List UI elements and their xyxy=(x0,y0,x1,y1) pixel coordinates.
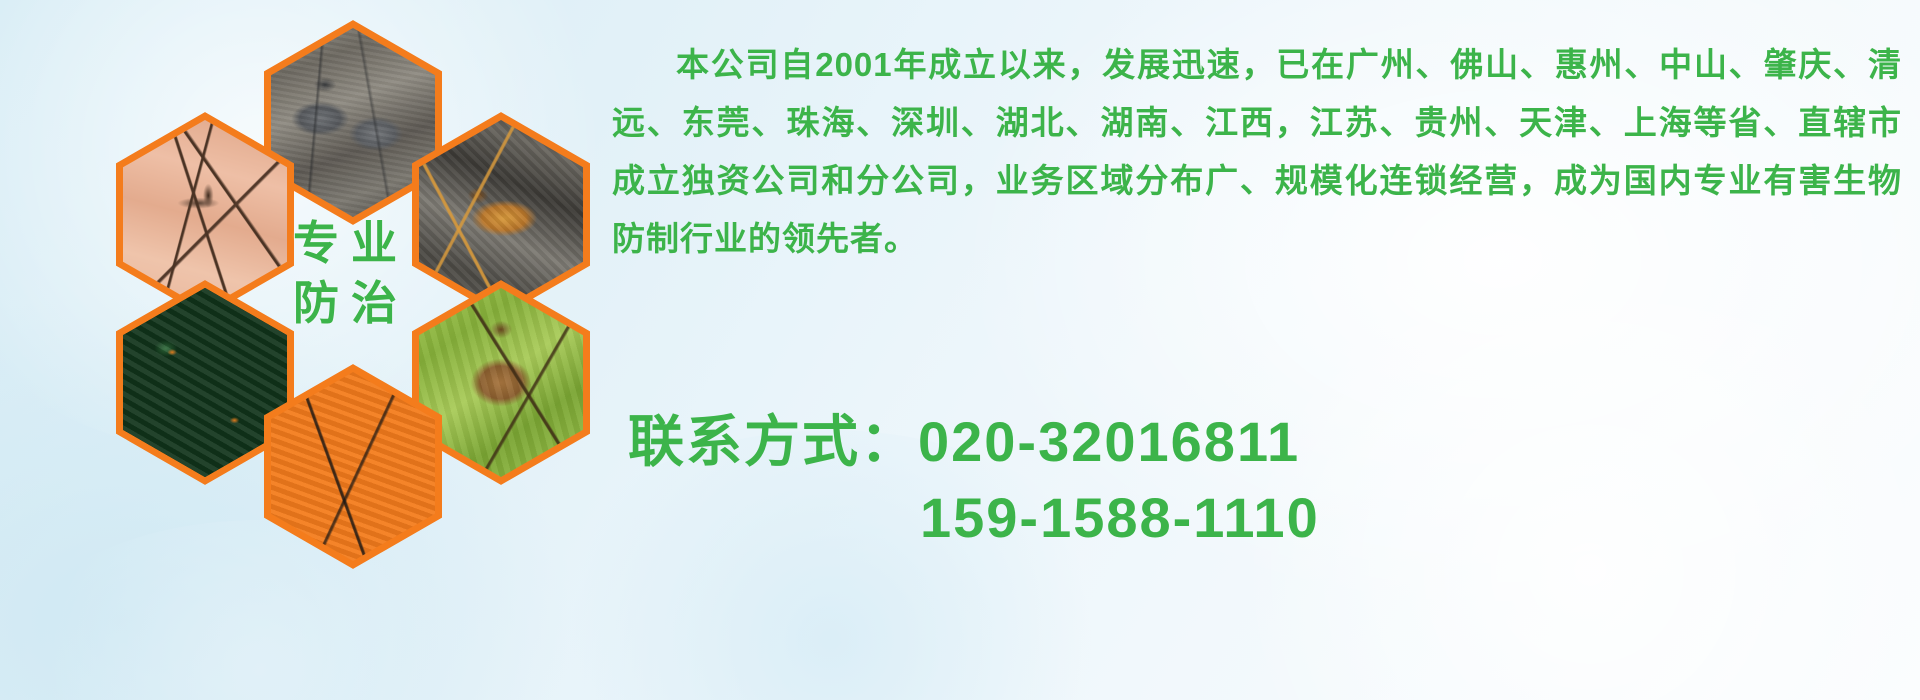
contact-block: 联系方式：020-32016811 159-1588-1110 xyxy=(628,404,1888,556)
company-description-text: 本公司自2001年成立以来，发展迅速，已在广州、佛山、惠州、中山、肇庆、清远、东… xyxy=(612,36,1902,268)
logo-slogan: 专业 防治 xyxy=(252,178,438,368)
pest-control-banner: 专业 防治 本公司自2001年成立以来，发展迅速，已在广州、佛山、惠州、中山、肇… xyxy=(0,0,1920,700)
company-description: 本公司自2001年成立以来，发展迅速，已在广州、佛山、惠州、中山、肇庆、清远、东… xyxy=(612,36,1902,268)
contact-line-secondary[interactable]: 159-1588-1110 xyxy=(628,480,1888,556)
logo-slogan-line2: 防治 xyxy=(281,280,409,326)
contact-line-primary[interactable]: 联系方式：020-32016811 xyxy=(628,404,1888,480)
logo-slogan-line1: 专业 xyxy=(281,220,409,266)
